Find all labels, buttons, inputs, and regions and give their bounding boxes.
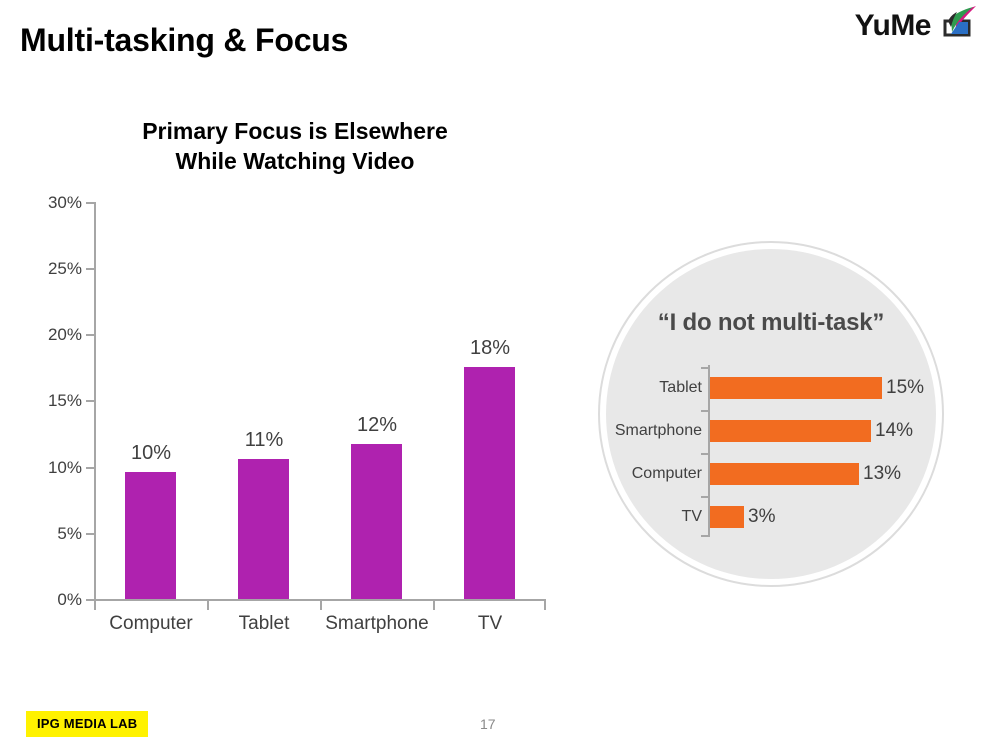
yume-screen-swoosh-icon <box>935 5 979 47</box>
y-axis-tick-label: 5% <box>4 524 82 544</box>
bar-value-label-tablet: 11% <box>245 429 284 452</box>
bar-value-label-computer: 10% <box>131 442 171 465</box>
x-axis-label-tv: TV <box>478 613 502 635</box>
inset-axis-tick <box>701 367 709 369</box>
yume-logo: YuMe <box>855 4 979 48</box>
inset-bar-computer[interactable] <box>710 463 859 485</box>
ipg-media-lab-badge: IPG MEDIA LAB <box>26 711 148 737</box>
y-axis-tick-label: 25% <box>4 259 82 279</box>
x-axis-tick <box>94 601 96 610</box>
x-axis-tick <box>544 601 546 610</box>
inset-value-label-tablet: 15% <box>886 377 924 399</box>
inset-chart-title: “I do not multi-task” <box>598 309 944 337</box>
inset-value-label-tv: 3% <box>748 506 775 528</box>
x-axis-label-smartphone: Smartphone <box>325 613 429 635</box>
chart-title: Primary Focus is Elsewhere While Watchin… <box>60 116 530 177</box>
bar-value-label-tv: 18% <box>470 337 510 360</box>
y-axis-tick-label: 0% <box>4 590 82 610</box>
slide: Multi-tasking & Focus YuMe Primary Focus… <box>0 0 997 747</box>
x-axis-tick <box>433 601 435 610</box>
y-axis-tick-label: 15% <box>4 391 82 411</box>
bar-computer[interactable] <box>125 472 176 599</box>
primary-focus-chart: Primary Focus is Elsewhere While Watchin… <box>0 110 580 640</box>
y-axis-tick-label: 20% <box>4 325 82 345</box>
plot-area <box>94 202 546 599</box>
y-axis-tick-label: 10% <box>4 458 82 478</box>
bar-tv[interactable] <box>464 367 515 599</box>
inset-category-computer: Computer <box>582 465 702 483</box>
chart-title-line-1: Primary Focus is Elsewhere <box>60 116 530 146</box>
inset-bar-tablet[interactable] <box>710 377 882 399</box>
inset-bar-tv[interactable] <box>710 506 744 528</box>
x-axis-tick <box>207 601 209 610</box>
inset-category-tablet: Tablet <box>582 379 702 397</box>
x-axis-tick <box>320 601 322 610</box>
do-not-multitask-chart: “I do not multi-task” Tablet Smartphone … <box>598 241 944 587</box>
inset-axis-tick <box>701 496 709 498</box>
bar-tablet[interactable] <box>238 459 289 599</box>
inset-value-label-computer: 13% <box>863 463 901 485</box>
inset-axis-tick <box>701 535 709 537</box>
page-number: 17 <box>480 716 496 732</box>
inset-plot-area: Tablet Smartphone Computer TV 15% 14% 13… <box>598 365 944 545</box>
page-title: Multi-tasking & Focus <box>20 22 348 59</box>
inset-category-tv: TV <box>582 508 702 526</box>
bar-value-label-smartphone: 12% <box>357 414 397 437</box>
inset-category-smartphone: Smartphone <box>582 422 702 440</box>
x-axis-label-tablet: Tablet <box>239 613 290 635</box>
inset-value-label-smartphone: 14% <box>875 420 913 442</box>
y-axis-tick-label: 30% <box>4 193 82 213</box>
chart-title-line-2: While Watching Video <box>60 146 530 176</box>
yume-wordmark: YuMe <box>855 11 931 41</box>
x-axis-label-computer: Computer <box>109 613 192 635</box>
inset-axis-tick <box>701 410 709 412</box>
bar-smartphone[interactable] <box>351 444 402 599</box>
inset-bar-smartphone[interactable] <box>710 420 871 442</box>
inset-axis-tick <box>701 453 709 455</box>
